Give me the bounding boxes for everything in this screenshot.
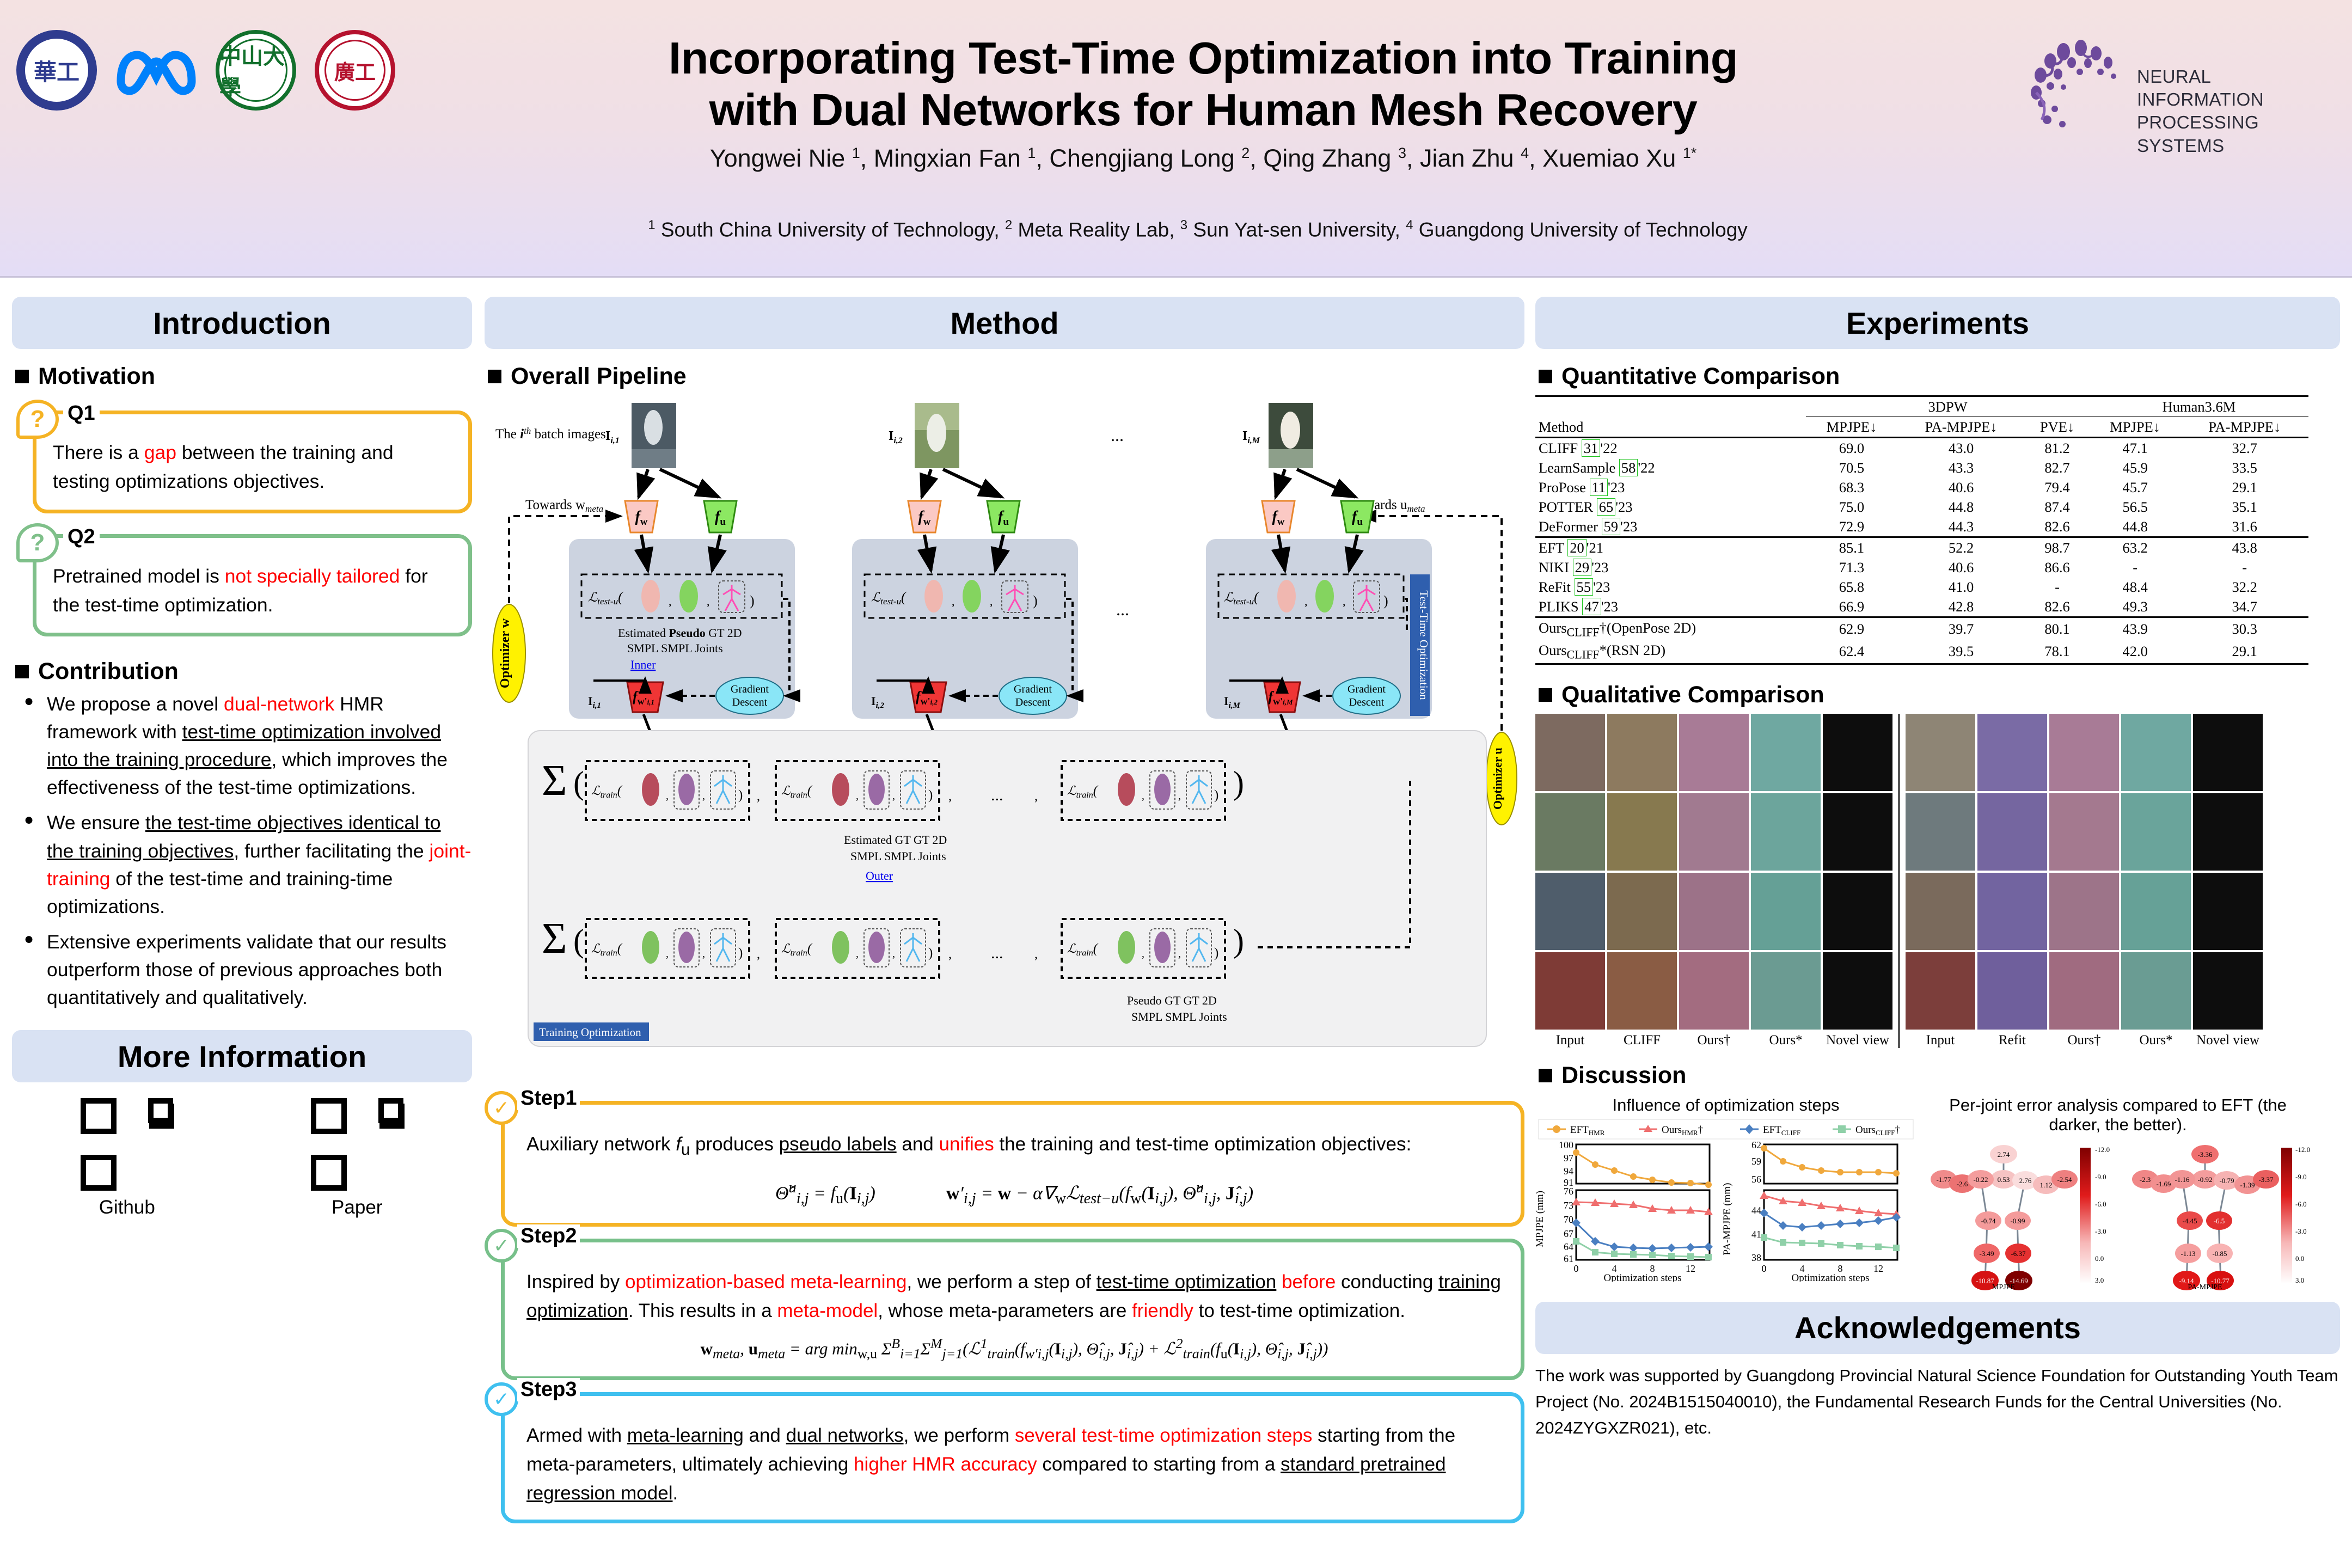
svg-text:,: , xyxy=(1142,948,1144,960)
experiments-column: Experiments Quantitative Comparison Meth… xyxy=(1535,297,2340,1441)
svg-text:-1.69: -1.69 xyxy=(2156,1180,2171,1188)
svg-text:-0.99: -0.99 xyxy=(2010,1217,2025,1225)
author-list: Yongwei Nie 1, Mingxian Fan 1, Chengjian… xyxy=(626,144,1780,173)
qualitative-grid: Input CLIFF Ours† Ours* Novel view Input… xyxy=(1535,714,2340,1048)
svg-text:,: , xyxy=(702,790,705,802)
qual-label: Input xyxy=(1906,1033,1975,1048)
c2-p1: We ensure xyxy=(47,812,145,834)
introduction-banner: Introduction xyxy=(12,297,472,349)
svg-text:70: 70 xyxy=(1564,1214,1573,1225)
svg-text:SMPL SMPL Joints: SMPL SMPL Joints xyxy=(627,641,723,655)
qualitative-right-labels: Input Refit Ours† Ours* Novel view xyxy=(1906,1033,2263,1048)
svg-text:67: 67 xyxy=(1564,1228,1573,1239)
svg-text:): ) xyxy=(1383,593,1388,609)
cell: 42.0 xyxy=(2090,640,2181,664)
qual-image xyxy=(1607,952,1677,1030)
discussion-title-left: Influence of optimization steps xyxy=(1535,1095,1916,1115)
svg-text:,: , xyxy=(1178,790,1181,802)
svg-text:): ) xyxy=(928,946,933,960)
question-mark-icon: ? xyxy=(16,523,59,562)
row-method: DeFormer 59'23 xyxy=(1535,517,1806,537)
q1-tag: Q1 xyxy=(63,402,100,425)
cell: 42.8 xyxy=(1897,597,2025,617)
svg-text:MPJPE (mm): MPJPE (mm) xyxy=(1535,1191,1546,1247)
step1-tag: Step1 xyxy=(517,1087,580,1110)
ellipsis-row1: ... xyxy=(991,786,1003,804)
svg-text:44: 44 xyxy=(1751,1205,1761,1216)
svg-text:62: 62 xyxy=(1751,1140,1761,1150)
quantitative-label: Quantitative Comparison xyxy=(1561,363,1840,390)
svg-text:76: 76 xyxy=(1564,1186,1573,1197)
svg-text:56: 56 xyxy=(1751,1174,1761,1185)
qual-image xyxy=(1751,793,1821,871)
q2-text: Pretrained model is not specially tailor… xyxy=(33,534,472,637)
meta-logo xyxy=(115,40,197,100)
cell: 62.9 xyxy=(1806,617,1897,641)
qual-image xyxy=(1535,714,1605,791)
cell: 98.7 xyxy=(2025,537,2090,558)
qual-image xyxy=(1679,793,1749,871)
cell: 65.8 xyxy=(1806,577,1897,597)
svg-text:59: 59 xyxy=(1751,1156,1761,1167)
th-mpjpe-3dpw: MPJPE↓ xyxy=(1806,417,1897,438)
table-row: ProPose 11'2368.340.679.445.729.1 xyxy=(1535,477,2308,497)
svg-text:,: , xyxy=(707,595,710,608)
q2-callout: ? Q2 Pretrained model is not specially t… xyxy=(20,534,472,637)
title-block: Incorporating Test-Time Optimization int… xyxy=(626,33,1780,173)
svg-text:Descent: Descent xyxy=(1015,696,1051,708)
gt-smpl-2b xyxy=(868,932,885,963)
svg-text:-2.6: -2.6 xyxy=(1957,1180,1968,1188)
step1-formula-right: w′i,j = w − α∇wℒtest−u(fw(Ii,j), Θ̂ui,j,… xyxy=(946,1176,1253,1210)
qual-image xyxy=(1977,952,2047,1030)
svg-text:): ) xyxy=(738,788,743,803)
step1-formulas: Θ̂ui,j = fu(Ii,j) w′i,j = w − α∇wℒtest−u… xyxy=(526,1168,1502,1210)
qual-label: Ours† xyxy=(2049,1033,2119,1048)
svg-text:41: 41 xyxy=(1751,1229,1761,1240)
cell: 63.2 xyxy=(2090,537,2181,558)
poster-title-line2: with Dual Networks for Human Mesh Recove… xyxy=(626,84,1780,136)
qual-image xyxy=(1906,793,1975,871)
cell: 43.3 xyxy=(1897,458,2025,477)
qual-col-refit xyxy=(1977,714,2047,1030)
qr-paper-caption: Paper xyxy=(310,1197,404,1218)
overall-pipeline-label: Overall Pipeline xyxy=(511,363,687,390)
svg-text:,: , xyxy=(666,948,669,960)
svg-text:1.12: 1.12 xyxy=(2040,1181,2053,1189)
cell: - xyxy=(2025,577,2090,597)
caption-outer-bottom: Pseudo GT GT 2D xyxy=(1127,994,1217,1007)
qualitative-divider xyxy=(1898,714,1900,1048)
cell: 35.1 xyxy=(2180,497,2308,517)
estimated-smpl-1c xyxy=(1118,773,1135,806)
qr-paper[interactable]: Paper xyxy=(310,1098,404,1218)
outer-tag: Outer xyxy=(866,869,893,883)
qual-image xyxy=(2121,873,2191,950)
qual-image xyxy=(2193,793,2263,871)
qual-col-cliff xyxy=(1607,714,1677,1030)
motivation-label: Motivation xyxy=(38,363,155,390)
scut-logo: 華工 xyxy=(16,30,97,111)
ellipsis-top: ... xyxy=(1111,425,1124,445)
svg-text:,: , xyxy=(948,947,952,961)
qual-image xyxy=(1535,793,1605,871)
svg-text:2.76: 2.76 xyxy=(2019,1177,2032,1185)
svg-text:38: 38 xyxy=(1751,1252,1761,1263)
qual-image xyxy=(2049,793,2119,871)
th-method: Method xyxy=(1535,396,1806,438)
per-joint-figure: Per-joint error analysis compared to EFT… xyxy=(1922,1095,2314,1293)
qual-image xyxy=(1823,873,1892,950)
qual-image xyxy=(1977,873,2047,950)
svg-text:Descent: Descent xyxy=(732,696,768,708)
svg-text:-3.0: -3.0 xyxy=(2095,1227,2106,1235)
qual-image xyxy=(1535,952,1605,1030)
svg-text:,: , xyxy=(990,595,993,608)
poster-title-line1: Incorporating Test-Time Optimization int… xyxy=(626,33,1780,84)
svg-text:Gradient: Gradient xyxy=(731,683,769,695)
qual-image xyxy=(1607,873,1677,950)
pseudo-smpl-mesh-1 xyxy=(679,580,698,612)
svg-text:,: , xyxy=(757,947,760,961)
estimated-smpl-1b xyxy=(832,773,849,806)
overall-pipeline-heading: Overall Pipeline xyxy=(488,363,1524,390)
quantitative-table: Method 3DPW Human3.6M MPJPE↓ PA-MPJPE↓ P… xyxy=(1535,395,2308,667)
svg-text:-12.0: -12.0 xyxy=(2295,1146,2310,1154)
cell: 75.0 xyxy=(1806,497,1897,517)
svg-text:97: 97 xyxy=(1564,1153,1573,1163)
svg-text:-0.22: -0.22 xyxy=(1973,1175,1988,1184)
svg-text:-4.45: -4.45 xyxy=(2182,1217,2197,1225)
estimated-smpl-mesh-1 xyxy=(641,580,660,612)
q1-highlight: gap xyxy=(144,442,176,463)
svg-text:-2.3: -2.3 xyxy=(2140,1175,2151,1184)
ellipsis-mid: ... xyxy=(1116,599,1129,619)
cell: 43.0 xyxy=(1897,438,2025,458)
svg-text:-6.0: -6.0 xyxy=(2295,1200,2307,1208)
chart-pa-mpjpe: PA-MPJPE (mm) 62 59 56 44 41 38 xyxy=(1722,1140,1901,1282)
qual-image xyxy=(1906,714,1975,791)
qual-image xyxy=(1823,952,1892,1030)
svg-text:12: 12 xyxy=(1686,1263,1695,1274)
qual-image xyxy=(2121,952,2191,1030)
tto-block-2: fw fu ℒtest-u( , , ) Gradient Descent fw… xyxy=(852,469,1078,754)
acknowledgements-text: The work was supported by Guangdong Prov… xyxy=(1535,1363,2340,1441)
skeleton-mpjpe: 2.74 0.53 2.76 -1.77 -2.6 -0.22 1.12 -2.… xyxy=(1931,1145,2110,1290)
step1-text: Auxiliary network fu produces pseudo lab… xyxy=(526,1134,1411,1155)
svg-text:,: , xyxy=(856,948,859,960)
cell: 52.2 xyxy=(1897,537,2025,558)
cell: 69.0 xyxy=(1806,438,1897,458)
cell: 32.2 xyxy=(2180,577,2308,597)
chart-mpjpe: MPJPE (mm) 100 97 94 91 76 73 70 67 64 xyxy=(1535,1140,1713,1282)
cell: 45.7 xyxy=(2090,477,2181,497)
table-row: EFT 20'2185.152.298.763.243.8 xyxy=(1535,537,2308,558)
step3-tag: Step3 xyxy=(517,1378,580,1401)
cell: 40.6 xyxy=(1897,477,2025,497)
list-item: We ensure the test-time objectives ident… xyxy=(22,809,472,920)
input-image-1 xyxy=(632,403,676,468)
image-label-M: Ii,M xyxy=(1242,429,1260,445)
q2-tag: Q2 xyxy=(63,525,100,549)
towards-w-label: Towards wmeta xyxy=(525,498,603,514)
neurips-text: NEURAL INFORMATION PROCESSING SYSTEMS xyxy=(2137,65,2336,157)
cell: 30.3 xyxy=(2180,617,2308,641)
qualitative-left-half xyxy=(1535,714,1892,1030)
list-item: We propose a novel dual-network HMR fram… xyxy=(22,690,472,801)
method-column: Method Overall Pipeline The ith batch im… xyxy=(485,297,1524,1523)
bullet-square-icon xyxy=(1539,1069,1552,1082)
svg-text:,: , xyxy=(948,789,952,804)
svg-text:,: , xyxy=(1343,595,1346,608)
contribution-heading: Contribution xyxy=(15,658,472,685)
row-method: EFT 20'21 xyxy=(1535,537,1806,558)
pseudo-smpl-2c xyxy=(1118,931,1135,964)
discussion-title-right: Per-joint error analysis compared to EFT… xyxy=(1922,1095,2314,1135)
svg-text:): ) xyxy=(1033,593,1038,609)
th-mpjpe-h36m: MPJPE↓ xyxy=(2090,417,2181,438)
qr-github[interactable]: Github xyxy=(80,1098,174,1218)
qual-image xyxy=(1823,793,1892,871)
qual-image xyxy=(1607,793,1677,871)
svg-text:Optimization steps: Optimization steps xyxy=(1603,1272,1681,1282)
qual-col-input xyxy=(1535,714,1605,1030)
qual-image xyxy=(2049,873,2119,950)
svg-text:PA-MPJPE (mm): PA-MPJPE (mm) xyxy=(1722,1183,1733,1255)
check-icon: ✓ xyxy=(485,1382,518,1416)
qual-image xyxy=(1751,952,1821,1030)
qual-image xyxy=(2193,714,2263,791)
table-row: NIKI 29'2371.340.686.6-- xyxy=(1535,558,2308,577)
row-method: OursCLIFF*(RSN 2D) xyxy=(1535,640,1806,664)
list-item: Extensive experiments validate that our … xyxy=(22,928,472,1012)
svg-text:,: , xyxy=(669,595,672,608)
affiliation-line: 1 South China University of Technology, … xyxy=(381,218,2014,241)
input-image-M xyxy=(1269,403,1313,468)
svg-text:64: 64 xyxy=(1564,1241,1573,1252)
contribution-list: We propose a novel dual-network HMR fram… xyxy=(22,690,472,1012)
qual-image xyxy=(1751,714,1821,791)
bullet-square-icon xyxy=(1539,370,1552,383)
skeleton-caption-pampjpe: PA-MPJPE xyxy=(2188,1283,2222,1290)
svg-text:-1.77: -1.77 xyxy=(1936,1175,1951,1184)
svg-text:-3.37: -3.37 xyxy=(2258,1175,2274,1184)
bullet-square-icon xyxy=(15,665,29,678)
svg-text:-0.74: -0.74 xyxy=(1981,1217,1996,1225)
estimated-smpl-mesh-M xyxy=(1277,580,1296,612)
svg-text:Descent: Descent xyxy=(1349,696,1385,708)
sigma-row1: Σ xyxy=(542,757,567,805)
image-label-1: Ii,1 xyxy=(605,429,620,445)
svg-text:0: 0 xyxy=(1762,1263,1767,1274)
svg-text:,: , xyxy=(757,789,760,804)
q1-text: There is a gap between the training and … xyxy=(33,411,472,513)
qual-image xyxy=(1679,952,1749,1030)
svg-text:,: , xyxy=(892,790,895,802)
neurips-logo: NEURAL INFORMATION PROCESSING SYSTEMS xyxy=(2031,33,2336,136)
cell: 70.5 xyxy=(1806,458,1897,477)
cell: 43.8 xyxy=(2180,537,2308,558)
row-method: ProPose 11'23 xyxy=(1535,477,1806,497)
qual-image xyxy=(1679,714,1749,791)
qual-image xyxy=(2193,952,2263,1030)
svg-text:-3.0: -3.0 xyxy=(2295,1227,2307,1235)
svg-text:100: 100 xyxy=(1559,1140,1573,1150)
svg-text:-12.0: -12.0 xyxy=(2095,1146,2110,1154)
cell: 82.7 xyxy=(2025,458,2090,477)
qualitative-heading: Qualitative Comparison xyxy=(1539,682,2340,708)
pipeline-svg: The ith batch images: Ii,1 Ii,2 Ii,M ...… xyxy=(485,397,1524,1089)
cell: 79.4 xyxy=(2025,477,2090,497)
qr-finder-icon xyxy=(378,1098,403,1123)
image-label-2: Ii,2 xyxy=(889,429,903,445)
qual-col-ours-star xyxy=(2121,714,2191,1030)
more-information-banner: More Information xyxy=(12,1030,472,1082)
qual-label: Ours* xyxy=(1751,1033,1821,1048)
qual-image xyxy=(2049,952,2119,1030)
gdut-logo: 廣工 xyxy=(315,30,395,111)
cell: 41.0 xyxy=(1897,577,2025,597)
qual-image xyxy=(1977,714,2047,791)
qual-col-ours-star xyxy=(1751,714,1821,1030)
skeleton-caption-mpjpe: MPJPE xyxy=(1992,1283,2015,1290)
svg-text:,: , xyxy=(1034,947,1038,961)
optimization-steps-charts: EFTHMR OursHMR† EFTCLIFF OursCLIFF† MPJP… xyxy=(1535,1118,1916,1282)
svg-text:61: 61 xyxy=(1564,1253,1573,1264)
svg-text:-9.0: -9.0 xyxy=(2095,1173,2106,1181)
cell: 45.9 xyxy=(2090,458,2181,477)
svg-text:-0.85: -0.85 xyxy=(2212,1249,2227,1258)
row-method: CLIFF 31'22 xyxy=(1535,438,1806,458)
estimated-smpl-1a xyxy=(642,773,659,806)
svg-text:,: , xyxy=(952,595,955,608)
qual-image xyxy=(1977,793,2047,871)
qualitative-right-half xyxy=(1906,714,2263,1030)
qual-label: Novel view xyxy=(1823,1033,1892,1048)
cell: 72.9 xyxy=(1806,517,1897,537)
experiments-banner: Experiments xyxy=(1535,297,2340,349)
row-method: OursCLIFF†(OpenPose 2D) xyxy=(1535,617,1806,641)
cell: 47.1 xyxy=(2090,438,2181,458)
gt-smpl-1c xyxy=(1154,774,1171,805)
skeleton-pa-mpjpe: -3.36 -0.92 -0.79 -2.3 -1.69 -1.16 -1.39… xyxy=(2132,1145,2310,1290)
cell: - xyxy=(2180,558,2308,577)
svg-text:0.0: 0.0 xyxy=(2295,1254,2304,1263)
cell: 44.3 xyxy=(1897,517,2025,537)
svg-text:2.74: 2.74 xyxy=(1998,1150,2010,1159)
cell: 66.9 xyxy=(1806,597,1897,617)
test-time-band-label: Test-Time Optimization xyxy=(1417,590,1430,700)
sysu-logo: 中山大學 xyxy=(216,30,296,111)
qual-image xyxy=(1607,714,1677,791)
c2-p2: , further facilitating the xyxy=(234,840,429,862)
step2-tag: Step2 xyxy=(517,1224,580,1248)
row-method: PLIKS 47'23 xyxy=(1535,597,1806,617)
cell: 32.7 xyxy=(2180,438,2308,458)
contribution-label: Contribution xyxy=(38,658,179,685)
neurips-line1: NEURAL INFORMATION xyxy=(2137,65,2336,111)
svg-text:): ) xyxy=(1214,946,1218,960)
cell: 29.1 xyxy=(2180,640,2308,664)
svg-text:-6.37: -6.37 xyxy=(2011,1249,2026,1258)
qual-label: Input xyxy=(1535,1033,1605,1048)
qual-col-novel-view xyxy=(2193,714,2263,1030)
svg-text:-0.92: -0.92 xyxy=(2197,1175,2212,1184)
cell: 68.3 xyxy=(1806,477,1897,497)
qual-image xyxy=(2049,714,2119,791)
optimizer-u-label: Optimizer u xyxy=(1491,748,1504,810)
check-icon: ✓ xyxy=(485,1229,518,1263)
sigma-row2: Σ xyxy=(542,915,567,963)
optimizer-w-label: Optimizer w xyxy=(498,618,512,688)
qual-label: Ours* xyxy=(2121,1033,2191,1048)
svg-text:): ) xyxy=(750,593,755,609)
qual-image xyxy=(2193,873,2263,950)
svg-text:0.0: 0.0 xyxy=(2095,1254,2104,1263)
cell: 31.6 xyxy=(2180,517,2308,537)
svg-text:SMPL SMPL Joints: SMPL SMPL Joints xyxy=(850,849,946,863)
cell: 29.1 xyxy=(2180,477,2308,497)
cell: 39.7 xyxy=(1897,617,2025,641)
svg-text:0: 0 xyxy=(1574,1263,1579,1274)
svg-text:): ) xyxy=(1233,923,1244,959)
qual-col-ours-dagger xyxy=(1679,714,1749,1030)
th-pampjpe-3dpw: PA-MPJPE↓ xyxy=(1897,417,2025,438)
qual-image xyxy=(1751,873,1821,950)
cell: 48.4 xyxy=(2090,577,2181,597)
qr-finder-icon xyxy=(148,1098,173,1123)
affiliation-logos: 華工 中山大學 廣工 xyxy=(16,30,395,111)
svg-text:-3.36: -3.36 xyxy=(2197,1150,2213,1159)
row-method: NIKI 29'23 xyxy=(1535,558,1806,577)
cell: 44.8 xyxy=(2090,517,2181,537)
caption-outer-top: Estimated GT GT 2D xyxy=(844,833,947,847)
qual-image xyxy=(1679,873,1749,950)
qr-code-icon[interactable] xyxy=(80,1098,174,1191)
qr-code-icon[interactable] xyxy=(310,1098,404,1191)
svg-text:): ) xyxy=(1214,788,1218,803)
qual-label: Ours† xyxy=(1679,1033,1749,1048)
discussion-label: Discussion xyxy=(1561,1062,1686,1089)
optimization-steps-figure: Influence of optimization steps EFTHMR O… xyxy=(1535,1095,1916,1293)
svg-text:,: , xyxy=(1034,789,1038,804)
svg-text:-3.49: -3.49 xyxy=(1979,1249,1994,1258)
step1-box: Auxiliary network fu produces pseudo lab… xyxy=(501,1101,1524,1227)
table-row: ReFit 55'2365.841.0-48.432.2 xyxy=(1535,577,2308,597)
gt-smpl-1a xyxy=(678,774,695,805)
svg-text:): ) xyxy=(1233,765,1244,801)
c3-p1: Extensive experiments validate that our … xyxy=(47,931,446,1008)
cell: 71.3 xyxy=(1806,558,1897,577)
q1-pre: There is a xyxy=(53,442,144,463)
cell: 80.1 xyxy=(2025,617,2090,641)
qual-image xyxy=(1906,873,1975,950)
q2-pre: Pretrained model is xyxy=(53,565,225,587)
cell: 40.6 xyxy=(1897,558,2025,577)
step2-text: Inspired by optimization-based meta-lear… xyxy=(526,1271,1501,1321)
svg-text:-6.5: -6.5 xyxy=(2214,1217,2225,1225)
table-row: OursCLIFF†(OpenPose 2D)62.939.780.143.93… xyxy=(1535,617,2308,641)
table-row: OursCLIFF*(RSN 2D)62.439.578.142.029.1 xyxy=(1535,640,2308,664)
svg-text:94: 94 xyxy=(1564,1166,1573,1177)
qual-col-ours-dagger xyxy=(2049,714,2119,1030)
svg-text:,: , xyxy=(1304,595,1308,608)
batch-label: The ith batch images: xyxy=(495,426,610,442)
cell: 81.2 xyxy=(2025,438,2090,458)
neurips-dots-icon xyxy=(2031,33,2134,136)
method-banner: Method xyxy=(485,297,1524,349)
bullet-square-icon xyxy=(15,370,29,383)
